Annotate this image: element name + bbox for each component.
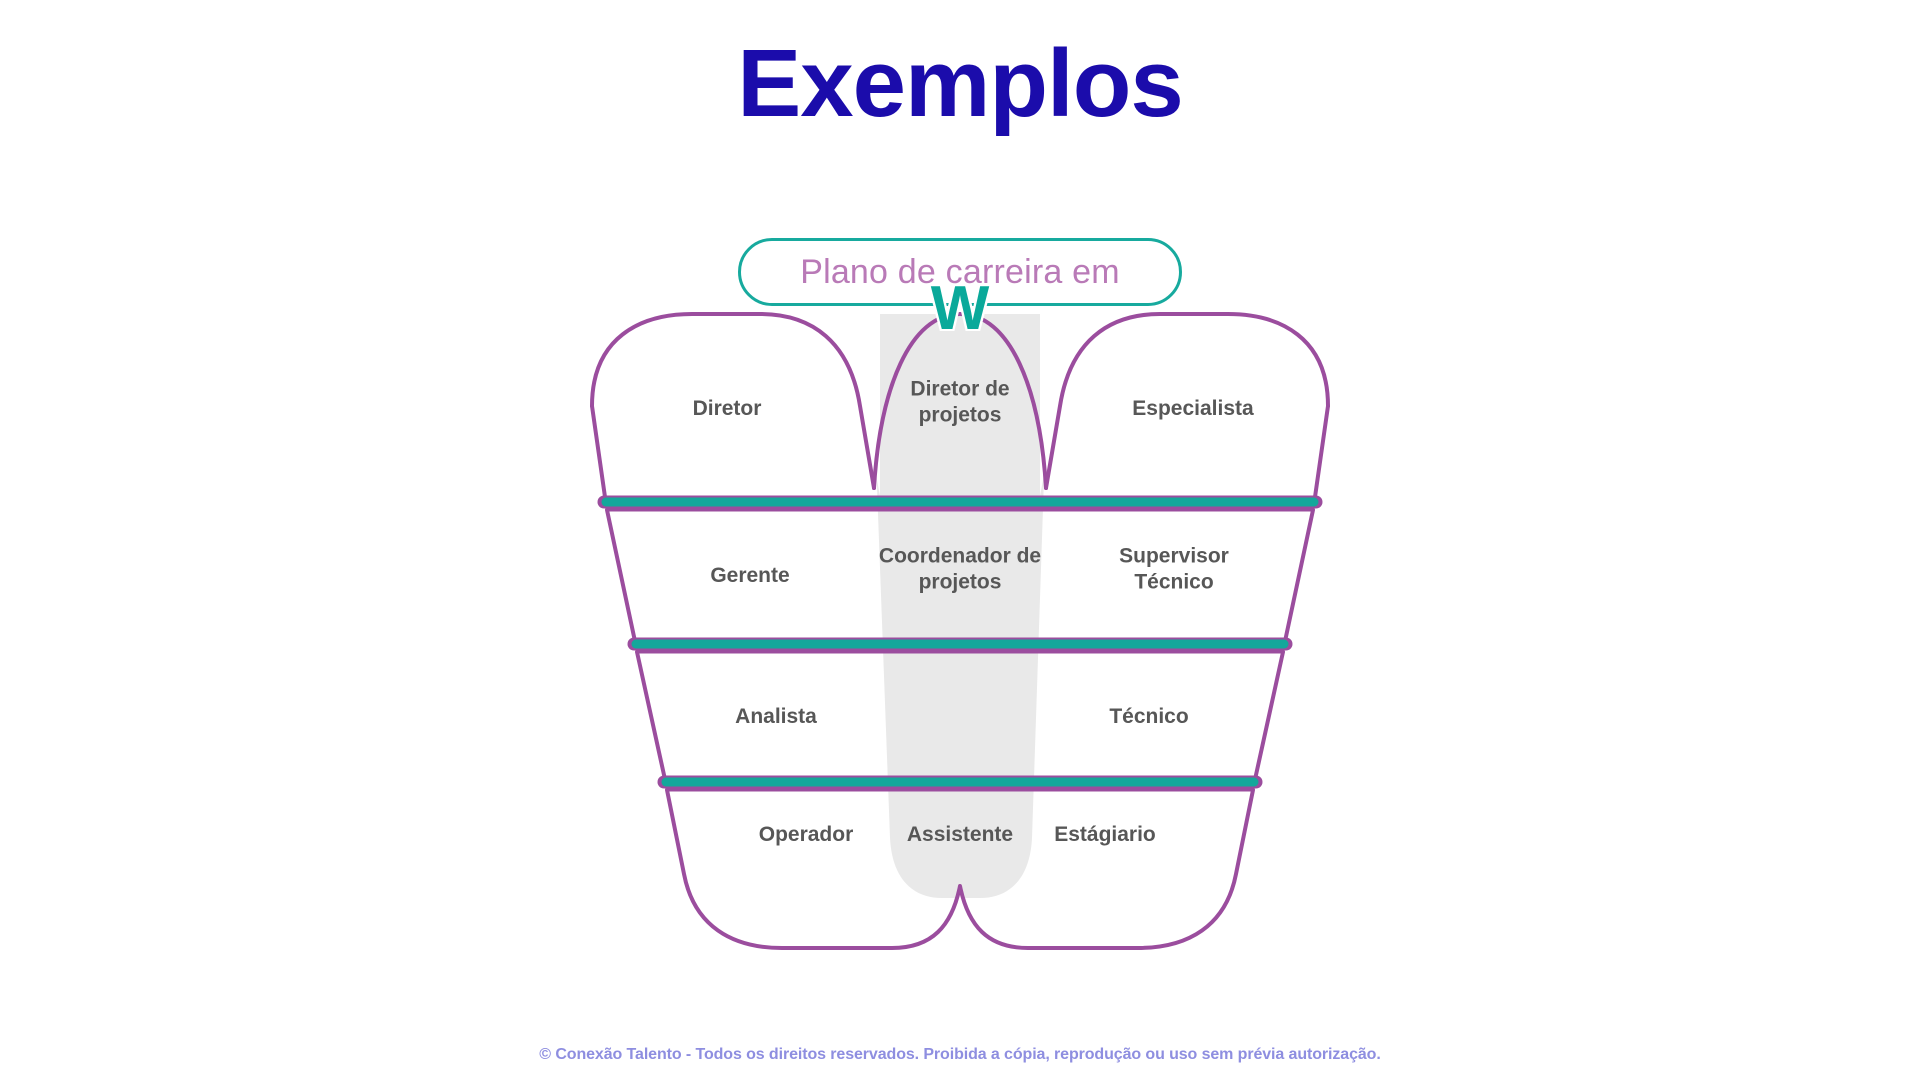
- career-path-diagram: Plano de carreira em W: [580, 238, 1340, 998]
- center-highlight-column: [870, 298, 1050, 898]
- copyright-footer: © Conexão Talento - Todos os direitos re…: [0, 1046, 1920, 1064]
- slide-root: Exemplos Plano de carreira em W: [0, 0, 1920, 1080]
- page-title: Exemplos: [0, 34, 1920, 135]
- w-letter-mark: W: [931, 278, 990, 340]
- funnel-shape: [580, 238, 1340, 998]
